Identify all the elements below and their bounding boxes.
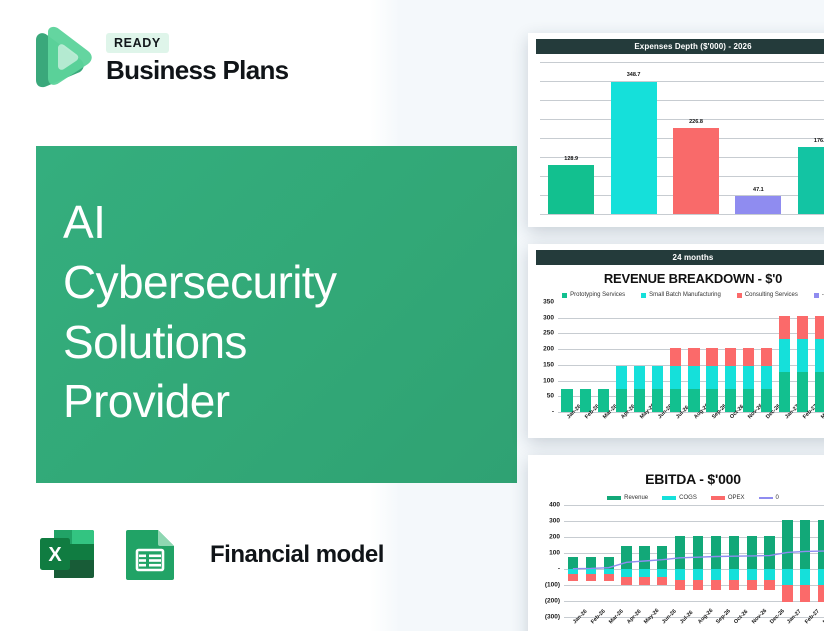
gridline bbox=[540, 214, 824, 215]
bar-segment bbox=[693, 536, 703, 569]
bar-segment bbox=[706, 348, 717, 367]
brand-name: Business Plans bbox=[106, 56, 288, 84]
legend-label: OPEX bbox=[728, 495, 745, 501]
legend-swatch bbox=[562, 293, 567, 298]
bar-segment bbox=[800, 520, 810, 569]
gridline bbox=[558, 412, 824, 413]
legend-label: COGS bbox=[679, 495, 697, 501]
legend-label: Small Batch Manufacturing bbox=[649, 292, 721, 298]
bar-segment bbox=[747, 569, 757, 580]
bar-segment bbox=[743, 366, 754, 388]
bar bbox=[548, 165, 594, 214]
bar-segment bbox=[580, 389, 591, 412]
bar-segment bbox=[729, 580, 739, 590]
bar-value-label: 128.9 bbox=[564, 156, 578, 162]
slide-canvas: READY Business Plans AI Cybersecurity So… bbox=[0, 0, 824, 631]
bar-value-label: 176.5 bbox=[814, 138, 824, 144]
bar-segment bbox=[634, 389, 645, 412]
gridline bbox=[564, 505, 824, 506]
bar-segment bbox=[764, 536, 774, 569]
bar-segment bbox=[747, 580, 757, 590]
bar-segment bbox=[815, 372, 824, 412]
bar-segment bbox=[639, 577, 649, 586]
legend-swatch bbox=[814, 293, 819, 298]
y-axis-tick: - bbox=[536, 566, 560, 573]
bar-segment bbox=[782, 569, 792, 585]
bar-segment bbox=[652, 366, 663, 388]
bar bbox=[735, 196, 781, 214]
bar bbox=[673, 128, 719, 214]
y-axis-tick: 250 bbox=[536, 330, 554, 337]
plot-area-revenue: 35030025020015010050-Jan-26Feb-26Mar-26A… bbox=[558, 302, 824, 412]
bar-segment bbox=[621, 546, 631, 569]
bar-segment bbox=[693, 580, 703, 590]
logo-svg bbox=[30, 26, 92, 92]
bar-segment bbox=[657, 577, 667, 586]
legend-item: 0 bbox=[759, 495, 779, 501]
bar-segment bbox=[670, 366, 681, 388]
bar-segment bbox=[634, 366, 645, 388]
plot-area-expenses: 128.9348.7226.847.1176.5 bbox=[540, 62, 824, 214]
bar-segment bbox=[797, 316, 808, 339]
chart-card-ebitda[interactable]: EBITDA - $'000 RevenueCOGSOPEX0 40030020… bbox=[528, 455, 824, 631]
bar-segment bbox=[670, 389, 681, 412]
legend-item: OPEX bbox=[711, 495, 745, 501]
bar-segment bbox=[797, 372, 808, 412]
legend-swatch bbox=[737, 293, 742, 298]
bar-segment bbox=[797, 339, 808, 372]
bar-segment bbox=[586, 557, 596, 569]
bar-segment bbox=[711, 580, 721, 590]
bar-segment bbox=[561, 389, 572, 412]
bar-segment bbox=[604, 574, 614, 580]
legend-item: - bbox=[814, 292, 824, 298]
y-axis-tick: 300 bbox=[536, 518, 560, 525]
bar-value-label: 47.1 bbox=[753, 187, 764, 193]
play-triangle-logo-icon bbox=[30, 26, 92, 92]
bar-segment bbox=[779, 316, 790, 339]
bar-segment bbox=[743, 348, 754, 367]
legend-label: Prototyping Services bbox=[570, 292, 625, 298]
chart-subheader-revenue: 24 months bbox=[536, 250, 824, 265]
bar-segment bbox=[779, 372, 790, 412]
bar-segment bbox=[652, 389, 663, 412]
legend-swatch bbox=[711, 496, 725, 500]
gridline bbox=[540, 100, 824, 101]
y-axis-tick: 300 bbox=[536, 314, 554, 321]
bar-segment bbox=[782, 585, 792, 602]
bar-segment bbox=[779, 339, 790, 372]
bar-segment bbox=[657, 546, 667, 569]
bar-value-label: 226.8 bbox=[689, 119, 703, 125]
gridline bbox=[540, 81, 824, 82]
y-axis-tick: 100 bbox=[536, 377, 554, 384]
bar-segment bbox=[764, 580, 774, 590]
bar-segment bbox=[706, 366, 717, 388]
legend-item: Prototyping Services bbox=[562, 292, 625, 298]
bar-segment bbox=[815, 339, 824, 372]
bar-segment bbox=[616, 366, 627, 388]
legend-swatch bbox=[607, 496, 621, 500]
bar-segment bbox=[761, 389, 772, 412]
gridline bbox=[564, 617, 824, 618]
bar-segment bbox=[747, 536, 757, 569]
y-axis-tick: 50 bbox=[536, 393, 554, 400]
bar-segment bbox=[586, 574, 596, 580]
bar-segment bbox=[725, 389, 736, 412]
legend-label: Revenue bbox=[624, 495, 648, 501]
svg-text:X: X bbox=[48, 544, 62, 566]
bar bbox=[611, 82, 657, 215]
bar-segment bbox=[706, 389, 717, 412]
gridline bbox=[540, 119, 824, 120]
legend-item: Consulting Services bbox=[737, 292, 798, 298]
ready-badge: READY bbox=[106, 33, 169, 53]
bar-segment bbox=[725, 366, 736, 388]
legend-item: COGS bbox=[662, 495, 697, 501]
chart-title-ebitda: EBITDA - $'000 bbox=[536, 471, 824, 487]
bar-segment bbox=[818, 569, 824, 585]
bar-segment bbox=[761, 366, 772, 388]
bar-segment bbox=[782, 520, 792, 569]
bar-segment bbox=[761, 348, 772, 367]
bar-segment bbox=[729, 536, 739, 569]
bar-segment bbox=[693, 569, 703, 580]
legend-item: Revenue bbox=[607, 495, 648, 501]
bar-value-label: 348.7 bbox=[627, 72, 641, 78]
financial-model-label: Financial model bbox=[210, 541, 384, 569]
hero-block: AI Cybersecurity Solutions Provider bbox=[36, 146, 517, 483]
y-axis-tick: 400 bbox=[536, 502, 560, 509]
y-axis-tick: (100) bbox=[536, 582, 560, 589]
brand-text: READY Business Plans bbox=[106, 33, 288, 84]
bar-segment bbox=[616, 389, 627, 412]
bar-segment bbox=[604, 557, 614, 569]
bar-segment bbox=[711, 569, 721, 580]
bar-segment bbox=[764, 569, 774, 580]
chart-card-revenue[interactable]: 24 months REVENUE BREAKDOWN - $'0 Protot… bbox=[528, 244, 824, 438]
bar-segment bbox=[670, 348, 681, 367]
bar bbox=[798, 147, 824, 214]
bar-segment bbox=[688, 389, 699, 412]
bar-segment bbox=[688, 348, 699, 367]
bar-segment bbox=[711, 536, 721, 569]
legend-label: Consulting Services bbox=[745, 292, 798, 298]
bar-segment bbox=[818, 520, 824, 569]
microsoft-excel-icon: X bbox=[34, 522, 100, 588]
legend-swatch bbox=[641, 293, 646, 298]
chart-card-expenses[interactable]: Expenses Depth ($'000) - 2026 128.9348.7… bbox=[528, 33, 824, 227]
bar-segment bbox=[675, 569, 685, 580]
bar-segment bbox=[800, 585, 810, 602]
bar-segment bbox=[818, 585, 824, 602]
bar-segment bbox=[657, 569, 667, 577]
footer-row: X Financial model bbox=[34, 522, 384, 588]
y-axis-tick: 100 bbox=[536, 550, 560, 557]
chart-title-expenses: Expenses Depth ($'000) - 2026 bbox=[536, 39, 824, 54]
bar-segment bbox=[675, 580, 685, 590]
y-axis-tick: - bbox=[536, 409, 554, 416]
y-axis-tick: 350 bbox=[536, 299, 554, 306]
y-axis-tick: (200) bbox=[536, 598, 560, 605]
bar-segment bbox=[639, 546, 649, 569]
bar-segment bbox=[815, 316, 824, 339]
bar-segment bbox=[688, 366, 699, 388]
bar-segment bbox=[675, 536, 685, 569]
bar-segment bbox=[621, 577, 631, 586]
legend-swatch bbox=[662, 496, 676, 500]
y-axis-tick: 200 bbox=[536, 346, 554, 353]
chart-legend-ebitda: RevenueCOGSOPEX0 bbox=[536, 495, 824, 501]
y-axis-tick: 150 bbox=[536, 361, 554, 368]
google-sheets-icon bbox=[118, 522, 180, 588]
legend-swatch bbox=[759, 497, 773, 499]
gridline bbox=[540, 62, 824, 63]
bar-segment bbox=[568, 557, 578, 569]
chart-legend-revenue: Prototyping ServicesSmall Batch Manufact… bbox=[536, 292, 824, 298]
bar-segment bbox=[568, 574, 578, 580]
y-axis-tick: 200 bbox=[536, 534, 560, 541]
plot-area-ebitda: 400300200100-(100)(200)(300)Jan-26Feb-26… bbox=[564, 505, 824, 617]
bar-segment bbox=[729, 569, 739, 580]
chart-title-revenue: REVENUE BREAKDOWN - $'0 bbox=[536, 271, 824, 286]
bar-segment bbox=[639, 569, 649, 577]
bar-segment bbox=[743, 389, 754, 412]
bar-segment bbox=[621, 569, 631, 577]
bar-segment bbox=[800, 569, 810, 585]
bar-segment bbox=[598, 389, 609, 412]
brand-logo[interactable]: READY Business Plans bbox=[30, 26, 288, 92]
legend-item: Small Batch Manufacturing bbox=[641, 292, 721, 298]
y-axis-tick: (300) bbox=[536, 614, 560, 621]
legend-label: 0 bbox=[776, 495, 779, 501]
page-title: AI Cybersecurity Solutions Provider bbox=[63, 193, 493, 432]
bar-segment bbox=[725, 348, 736, 367]
